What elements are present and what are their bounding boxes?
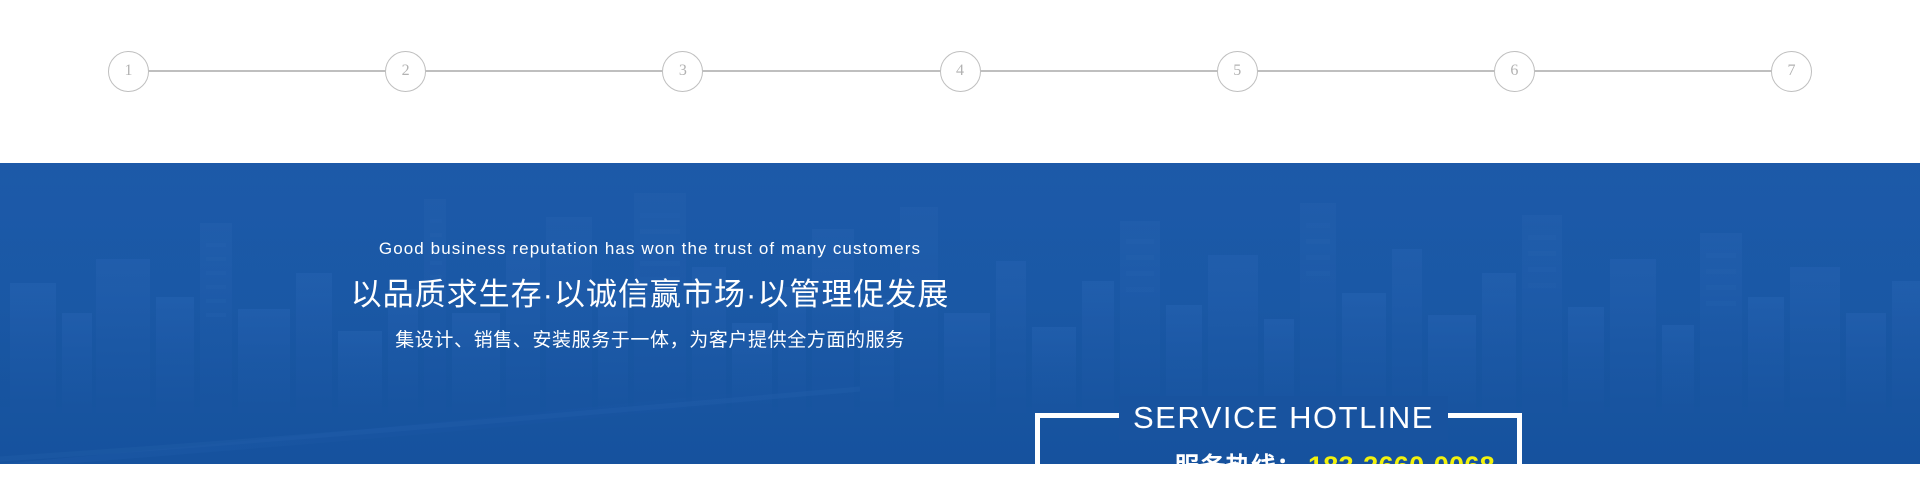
step-node-2[interactable]: 2 [385,51,426,92]
service-hotline-numbers: 服务热线： 183-2660-0068 0551-63749777 [1040,447,1517,464]
step-node-label: 1 [125,63,133,79]
step-connector-6-7 [1534,70,1772,72]
step-node-5[interactable]: 5 [1217,51,1258,92]
step-connector-4-5 [980,70,1218,72]
step-node-label: 7 [1788,63,1796,79]
slogan-english-line: Good business reputation has won the tru… [300,239,1000,259]
banner-content: Good business reputation has won the tru… [0,163,1920,464]
hotline-label: 服务热线： [1174,447,1302,464]
slogan-chinese-subline: 集设计、销售、安装服务于一体，为客户提供全方面的服务 [300,330,1000,353]
step-connector-3-4 [702,70,940,72]
slogan-banner: Good business reputation has won the tru… [0,163,1920,464]
hotline-number-primary[interactable]: 183-2660-0068 [1308,451,1495,464]
step-node-label: 2 [402,63,410,79]
step-node-label: 3 [679,63,687,79]
service-hotline-title-wrap: SERVICE HOTLINE [1040,396,1527,440]
hotline-row-primary: 服务热线： 183-2660-0068 [1068,447,1495,464]
step-connector-2-3 [425,70,663,72]
slogan-text-block: Good business reputation has won the tru… [300,239,1000,352]
footer-banner-page: 1 2 3 4 5 6 7 [0,0,1920,500]
step-indicator-rail: 1 2 3 4 5 6 7 [108,50,1812,92]
step-connector-1-2 [148,70,386,72]
step-indicator-strip: 1 2 3 4 5 6 7 [0,0,1920,163]
slogan-chinese-headline: 以品质求生存·以诚信赢市场·以管理促发展 [300,276,1000,313]
step-connector-5-6 [1257,70,1495,72]
step-node-1[interactable]: 1 [108,51,149,92]
step-node-4[interactable]: 4 [940,51,981,92]
step-node-6[interactable]: 6 [1494,51,1535,92]
step-node-label: 6 [1510,63,1518,79]
service-hotline-box: SERVICE HOTLINE 服务热线： 183-2660-0068 0551… [1035,413,1522,464]
step-node-3[interactable]: 3 [662,51,703,92]
step-node-label: 5 [1233,63,1241,79]
step-node-7[interactable]: 7 [1771,51,1812,92]
step-node-label: 4 [956,63,964,79]
service-hotline-title: SERVICE HOTLINE [1119,396,1448,440]
page-bottom-strip [0,464,1920,500]
